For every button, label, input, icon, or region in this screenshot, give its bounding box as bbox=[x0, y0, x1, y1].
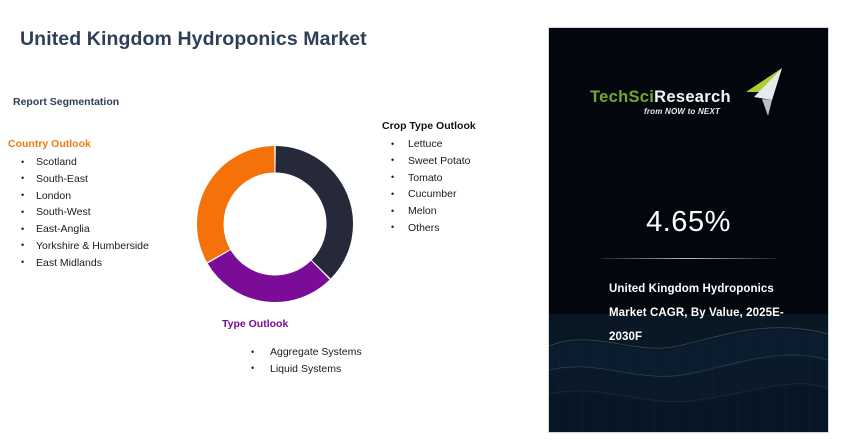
list-item: East-Anglia bbox=[8, 221, 149, 238]
list-item: South-West bbox=[8, 204, 149, 221]
list-item: Lettuce bbox=[382, 136, 476, 153]
report-segmentation-slide: United Kingdom Hydroponics Market Report… bbox=[0, 0, 548, 443]
list-item: Sweet Potato bbox=[382, 153, 476, 170]
country-outlook-block: Country Outlook Scotland South-East Lond… bbox=[8, 138, 149, 272]
country-outlook-list: Scotland South-East London South-West Ea… bbox=[8, 154, 149, 272]
crop-type-outlook-heading: Crop Type Outlook bbox=[382, 120, 476, 132]
section-label: Report Segmentation bbox=[13, 96, 119, 108]
type-outlook-heading: Type Outlook bbox=[222, 318, 362, 330]
list-item: South-East bbox=[8, 171, 149, 188]
segmentation-donut-chart bbox=[194, 143, 356, 305]
crop-type-outlook-block: Crop Type Outlook Lettuce Sweet Potato T… bbox=[382, 120, 476, 237]
list-item: Yorkshire & Humberside bbox=[8, 238, 149, 255]
donut-slice bbox=[276, 159, 340, 269]
type-outlook-block: Type Outlook Aggregate Systems Liquid Sy… bbox=[222, 318, 362, 378]
list-item: Tomato bbox=[382, 170, 476, 187]
list-item: London bbox=[8, 188, 149, 205]
list-item: Aggregate Systems bbox=[237, 344, 362, 361]
cagr-caption: United Kingdom Hydroponics Market CAGR, … bbox=[609, 277, 809, 349]
donut-slice bbox=[210, 159, 274, 255]
country-outlook-heading: Country Outlook bbox=[8, 138, 149, 150]
list-item: Liquid Systems bbox=[237, 361, 362, 378]
donut-slices bbox=[210, 159, 339, 288]
divider bbox=[601, 258, 776, 259]
page-title: United Kingdom Hydroponics Market bbox=[20, 28, 367, 51]
techsci-research-logo: TechSciResearch from NOW to NEXT bbox=[549, 66, 828, 128]
cagr-stat-panel: TechSciResearch from NOW to NEXT 4.65% U… bbox=[548, 27, 829, 433]
list-item: Cucumber bbox=[382, 186, 476, 203]
list-item: Others bbox=[382, 220, 476, 237]
donut-svg bbox=[194, 143, 356, 305]
logo-wordmark: TechSciResearch bbox=[590, 88, 731, 107]
type-outlook-list: Aggregate Systems Liquid Systems bbox=[237, 344, 362, 378]
logo-wordmark-secondary: Research bbox=[654, 88, 731, 106]
list-item: East Midlands bbox=[8, 255, 149, 272]
crop-type-outlook-list: Lettuce Sweet Potato Tomato Cucumber Mel… bbox=[382, 136, 476, 237]
arrow-icon bbox=[724, 66, 786, 118]
logo-wordmark-primary: TechSci bbox=[590, 88, 654, 106]
cagr-value: 4.65% bbox=[549, 206, 828, 239]
list-item: Melon bbox=[382, 203, 476, 220]
list-item: Scotland bbox=[8, 154, 149, 171]
logo-tagline: from NOW to NEXT bbox=[644, 107, 720, 116]
donut-slice bbox=[219, 257, 320, 289]
